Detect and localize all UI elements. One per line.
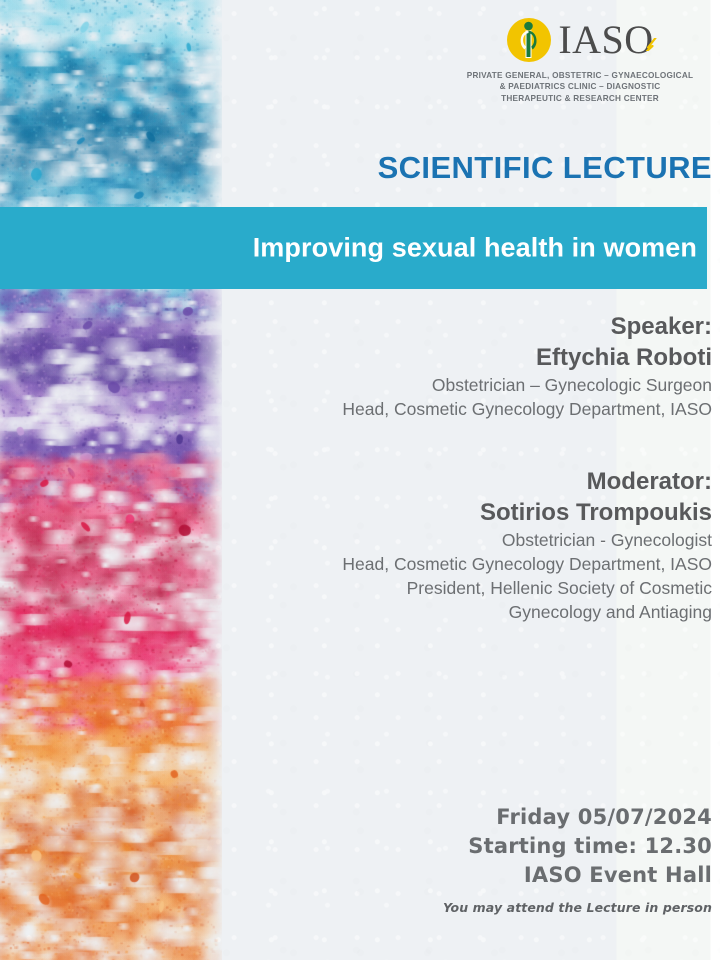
event-date: Friday 05/07/2024: [0, 803, 712, 832]
people-section: Speaker: Eftychia Roboti Obstetrician – …: [0, 312, 720, 624]
eyebrow-title: SCIENTIFIC LECTURE: [0, 150, 720, 186]
speaker-name: Eftychia Roboti: [0, 342, 712, 373]
event-details: Friday 05/07/2024 Starting time: 12.30 I…: [0, 803, 720, 890]
moderator-name: Sotirios Trompoukis: [0, 497, 712, 528]
clinic-logo: IASO PRIVATE GENERAL, OBSTETRIC – GYNAEC…: [455, 14, 705, 104]
title-band: Improving sexual health in women: [0, 207, 707, 289]
event-venue: IASO Event Hall: [0, 861, 712, 890]
iaso-figure-icon: [506, 17, 552, 63]
section-spacer: [0, 421, 712, 467]
moderator-credential: Obstetrician - Gynecologist: [0, 528, 712, 552]
moderator-block: Moderator: Sotirios Trompoukis Obstetric…: [0, 467, 712, 624]
clinic-subtitle-line-1: PRIVATE GENERAL, OBSTETRIC – GYNAECOLOGI…: [455, 70, 705, 81]
iaso-accent-icon: [646, 18, 657, 31]
moderator-credential: Head, Cosmetic Gynecology Department, IA…: [0, 552, 712, 576]
attendance-note: You may attend the Lecture in person: [0, 900, 720, 915]
moderator-credential: Gynecology and Antiaging: [0, 600, 712, 624]
speaker-credential: Head, Cosmetic Gynecology Department, IA…: [0, 397, 712, 421]
speaker-credential: Obstetrician – Gynecologic Surgeon: [0, 373, 712, 397]
iaso-wordmark: IASO: [558, 20, 653, 60]
poster-root: IASO PRIVATE GENERAL, OBSTETRIC – GYNAEC…: [0, 0, 720, 960]
speaker-role: Speaker:: [0, 312, 712, 342]
moderator-credential: President, Hellenic Society of Cosmetic: [0, 576, 712, 600]
clinic-subtitle-line-2: & PAEDIATRICS CLINIC – DIAGNOSTIC: [455, 81, 705, 92]
lecture-title: Improving sexual health in women: [253, 233, 697, 264]
iaso-wordmark-text: IASO: [558, 17, 653, 62]
speaker-block: Speaker: Eftychia Roboti Obstetrician – …: [0, 312, 712, 421]
moderator-role: Moderator:: [0, 467, 712, 497]
clinic-subtitle-line-3: THERAPEUTIC & RESEARCH CENTER: [455, 93, 705, 104]
event-time: Starting time: 12.30: [0, 832, 712, 861]
